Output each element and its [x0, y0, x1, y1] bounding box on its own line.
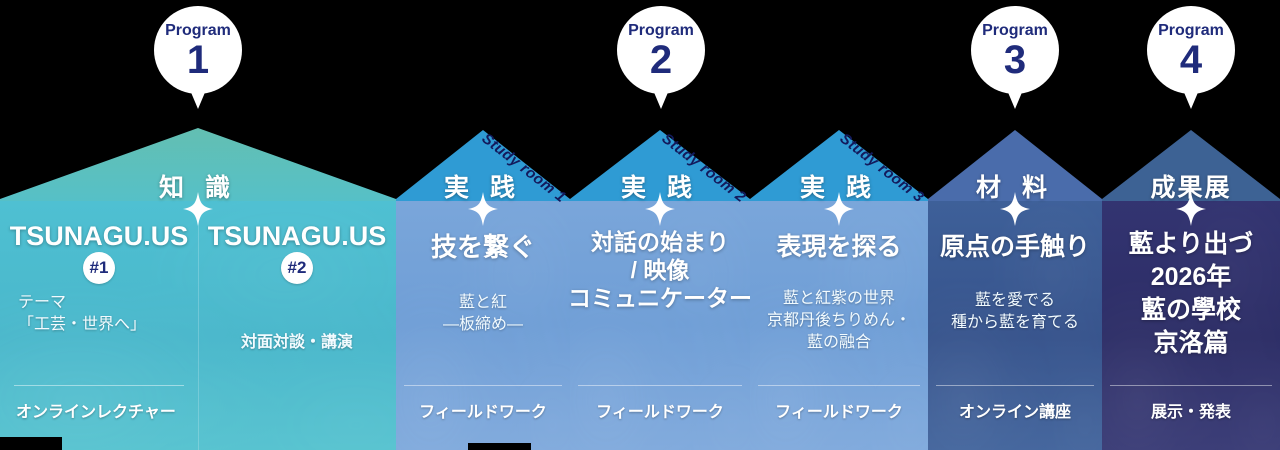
- footer-label-4: フィールドワーク: [570, 398, 750, 422]
- program-balloon-word: Program: [628, 23, 694, 39]
- program-balloon-word: Program: [165, 23, 231, 39]
- headline-tsunagu-1: TSUNAGU.US: [0, 220, 198, 253]
- divider-rule-1: [14, 385, 184, 386]
- program-balloon-1[interactable]: Program 1: [154, 6, 242, 94]
- divider-rule-6: [936, 385, 1094, 386]
- program-balloon-number: 4: [1180, 40, 1202, 80]
- badge-wrap-2: #2: [198, 252, 396, 284]
- badge-wrap-1: #1: [0, 252, 198, 284]
- bottom-left-black-strip: [0, 437, 62, 450]
- divider-rule-4: [578, 385, 742, 386]
- headline-practice-1: 技を繋ぐ: [396, 232, 570, 264]
- roof-shape: [1102, 130, 1280, 201]
- headline-material: 原点の手触り: [926, 232, 1104, 263]
- sub-practice-3: 藍と紅紫の世界 京都丹後ちりめん・ 藍の融合: [748, 288, 930, 354]
- program-balloon-word: Program: [1158, 23, 1224, 39]
- program-roadmap-diagram: 知 識 TSUNAGU.US #1 テーマ 「工芸・世界へ」 オンラインレクチャ…: [0, 0, 1280, 450]
- sub-col-2: 対面対談・講演: [198, 332, 396, 354]
- footer-label-7: 展示・発表: [1102, 398, 1280, 422]
- roof-material: [928, 130, 1102, 201]
- badge-number-2: #2: [281, 252, 313, 284]
- balloon-tail: [1007, 90, 1023, 109]
- sparkle-diamond-icon: [468, 192, 498, 226]
- divider-rule-7: [1110, 385, 1272, 386]
- roof-knowledge: [0, 128, 396, 201]
- sub-material: 藍を愛でる 種から藍を育てる: [928, 290, 1102, 334]
- divider-rule-5: [758, 385, 920, 386]
- footer-label-1: オンラインレクチャー: [0, 398, 198, 422]
- program-balloon-number: 1: [187, 40, 209, 80]
- balloon-tail: [653, 90, 669, 109]
- sub-col-1: テーマ 「工芸・世界へ」: [0, 292, 198, 336]
- headline-tsunagu-2: TSUNAGU.US: [198, 220, 396, 253]
- badge-number-1: #1: [83, 252, 115, 284]
- balloon-tail: [1183, 90, 1199, 109]
- bottom-mid-black-strip: [468, 443, 531, 450]
- balloon-tail: [190, 90, 206, 109]
- program-balloon-3[interactable]: Program 3: [971, 6, 1059, 94]
- sparkle-diamond-icon: [824, 192, 854, 226]
- roof-shape: [0, 128, 396, 201]
- roof-exhibition: [1102, 130, 1280, 201]
- roof-shape: [928, 130, 1102, 201]
- divider-rule-3: [404, 385, 562, 386]
- footer-label-6: オンライン講座: [928, 398, 1102, 422]
- headline-exhibition: 藍より出づ 2026年 藍の學校 京洛篇: [1102, 228, 1280, 360]
- program-balloon-4[interactable]: Program 4: [1147, 6, 1235, 94]
- program-balloon-number: 2: [650, 40, 672, 80]
- sub-practice-1: 藍と紅 ―板締め―: [396, 292, 570, 336]
- sparkle-diamond-icon: [645, 192, 675, 226]
- headline-practice-2: 対話の始まり / 映像 コミュニケーター: [564, 228, 756, 312]
- footer-label-5: フィールドワーク: [750, 398, 928, 422]
- program-balloon-number: 3: [1004, 40, 1026, 80]
- footer-label-3: フィールドワーク: [396, 398, 570, 422]
- program-balloon-word: Program: [982, 23, 1048, 39]
- sparkle-diamond-icon: [1000, 192, 1030, 226]
- headline-practice-3: 表現を探る: [750, 232, 928, 263]
- sparkle-diamond-icon: [1176, 192, 1206, 226]
- program-balloon-2[interactable]: Program 2: [617, 6, 705, 94]
